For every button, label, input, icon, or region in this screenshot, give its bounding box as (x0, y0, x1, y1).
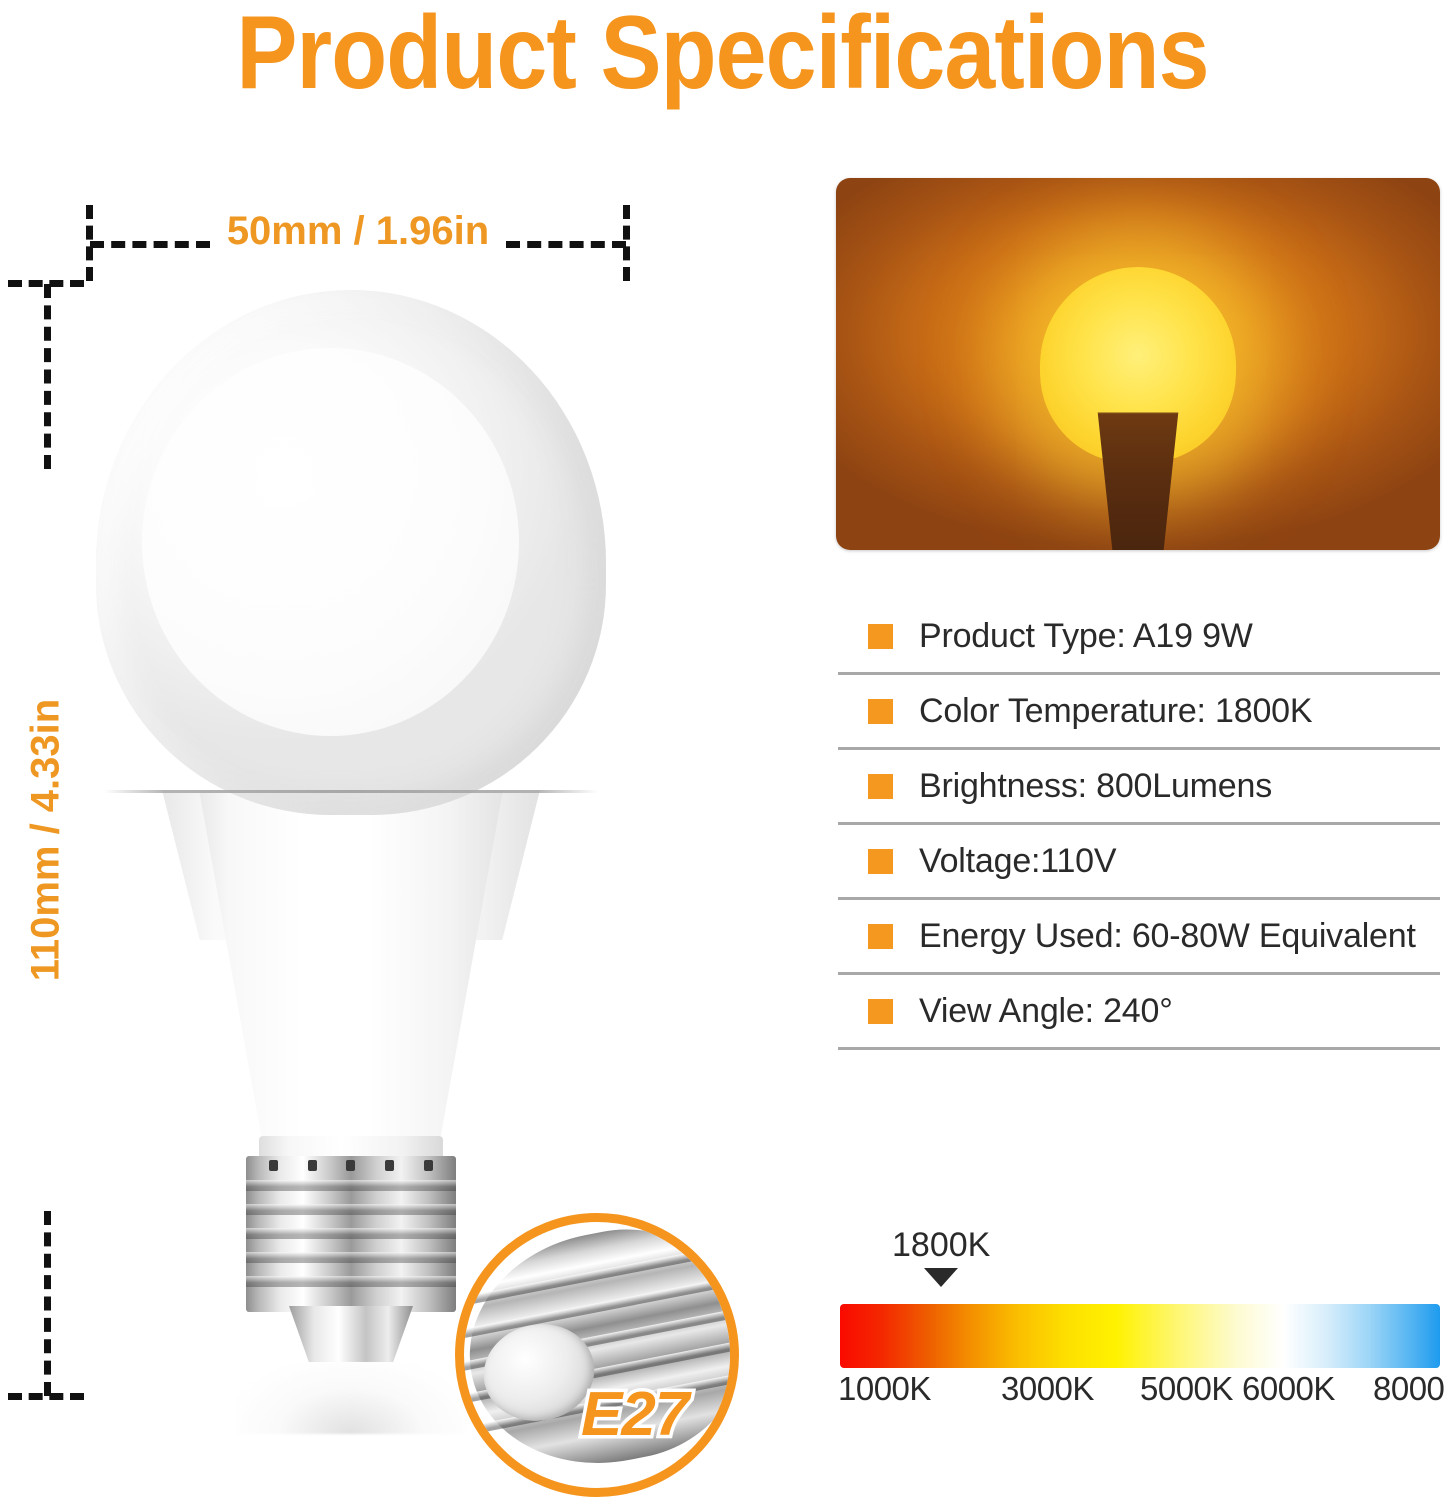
e27-label: E27 (581, 1379, 688, 1450)
bulb-vent-hole (385, 1160, 394, 1171)
spec-label: Color Temperature: 1800K (919, 692, 1312, 731)
bulb-vent-hole (308, 1160, 317, 1171)
bulb-thread (246, 1204, 456, 1215)
ct-tick-label: 8000K (1373, 1370, 1445, 1408)
spec-label: Voltage:110V (919, 842, 1116, 881)
e27-thread (455, 1242, 739, 1308)
spec-label: Product Type: A19 9W (919, 617, 1253, 656)
spec-row-product-type: Product Type: A19 9W (838, 600, 1440, 675)
bulb-vent-hole (346, 1160, 355, 1171)
bullet-square-icon (868, 999, 893, 1024)
bulb-reflection (236, 1362, 466, 1434)
width-dimension-left-line (90, 241, 210, 248)
bullet-square-icon (868, 924, 893, 949)
bullet-square-icon (868, 624, 893, 649)
e27-base-callout: E27 (455, 1213, 745, 1485)
spec-row-energy-used: Energy Used: 60-80W Equivalent (838, 900, 1440, 975)
bulb-thread (246, 1180, 456, 1191)
width-dimension: 50mm / 1.96in (86, 205, 630, 281)
spec-label: View Angle: 240° (919, 992, 1173, 1031)
spec-label: Energy Used: 60-80W Equivalent (919, 917, 1416, 956)
spec-label: Brightness: 800Lumens (919, 767, 1272, 806)
bulb-screw-base (246, 1156, 456, 1312)
bullet-square-icon (868, 849, 893, 874)
height-dimension-top-line (44, 284, 51, 469)
bulb-vent-hole (269, 1160, 278, 1171)
bulb-vent-holes (254, 1156, 448, 1174)
triangle-down-icon (924, 1268, 958, 1287)
color-temperature-gradient-bar (840, 1304, 1440, 1368)
bulb-globe (96, 290, 606, 815)
width-dimension-label: 50mm / 1.96in (227, 209, 489, 254)
lit-bulb-photo (836, 178, 1440, 550)
bullet-square-icon (868, 699, 893, 724)
ct-tick-label: 6000K (1242, 1370, 1335, 1408)
spec-row-color-temperature: Color Temperature: 1800K (838, 675, 1440, 750)
width-dimension-right-line (506, 241, 626, 248)
bulb-thread (246, 1228, 456, 1239)
bulb-base-tip (289, 1306, 413, 1362)
product-illustration-panel: 50mm / 1.96in 110mm / 4.33in (0, 120, 810, 1382)
spec-row-voltage: Voltage:110V (838, 825, 1440, 900)
ct-tick-label: 5000K (1140, 1370, 1233, 1408)
specification-list: Product Type: A19 9W Color Temperature: … (838, 600, 1440, 1050)
spec-row-view-angle: View Angle: 240° (838, 975, 1440, 1050)
ct-tick-label: 1000K (838, 1370, 931, 1408)
bulb-vent-hole (424, 1160, 433, 1171)
ct-tick-label: 3000K (1001, 1370, 1094, 1408)
e27-thread (455, 1274, 739, 1340)
e27-callout-circle (455, 1213, 739, 1497)
color-temperature-tick-labels: 1000K 3000K 5000K 6000K 8000K (838, 1370, 1442, 1416)
color-temperature-marker: 1800K (892, 1228, 990, 1287)
height-dimension-label: 110mm / 4.33in (24, 699, 69, 981)
bulb-thread (246, 1252, 456, 1263)
height-dimension: 110mm / 4.33in (8, 280, 84, 1400)
color-temperature-marker-value: 1800K (892, 1228, 990, 1262)
height-dimension-bottom-line (44, 1211, 51, 1396)
spec-row-brightness: Brightness: 800Lumens (838, 750, 1440, 825)
bullet-square-icon (868, 774, 893, 799)
bulb-neck (199, 790, 503, 1145)
bulb-globe-highlight (142, 348, 519, 737)
specifications-panel: Product Type: A19 9W Color Temperature: … (836, 0, 1445, 1382)
bulb-thread (246, 1276, 456, 1287)
bulb-seam-line (104, 790, 598, 793)
